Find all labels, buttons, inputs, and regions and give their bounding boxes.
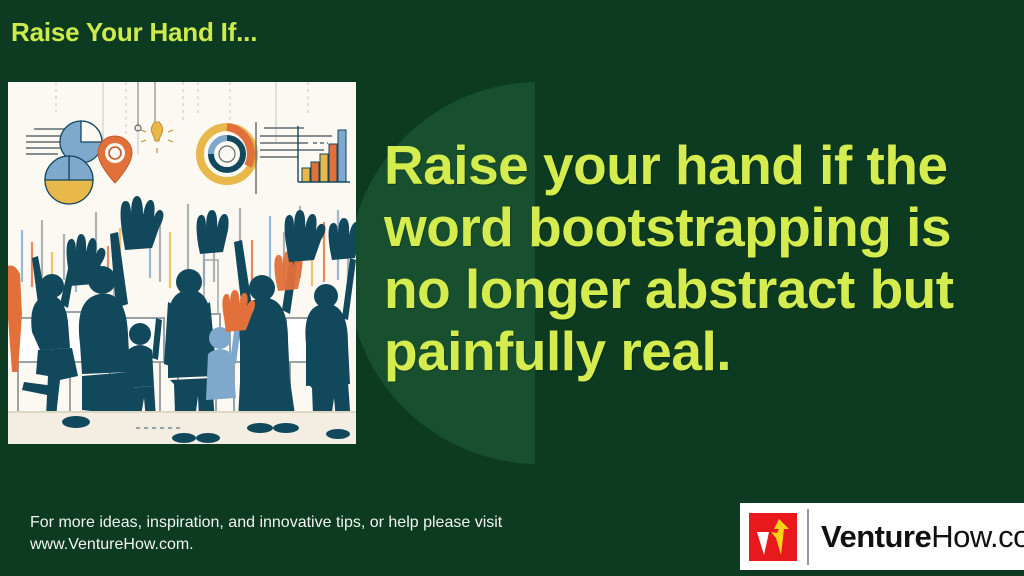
footer-note: For more ideas, inspiration, and innovat…	[30, 512, 670, 556]
illustration-audience-raising-hands	[8, 82, 356, 444]
venture-arrow-icon	[749, 513, 797, 561]
logo-divider	[807, 509, 809, 565]
page-title: Raise Your Hand If...	[11, 17, 257, 48]
illustration-graphic	[8, 82, 356, 444]
logo-word-light: How.com	[931, 519, 1024, 554]
footer-line-1: For more ideas, inspiration, and innovat…	[30, 512, 670, 534]
venture-arrow-glyph	[749, 513, 797, 561]
venturehow-logo[interactable]: VentureHow.com	[740, 503, 1024, 570]
donut-chart	[200, 127, 254, 181]
pie-chart	[45, 156, 93, 204]
footer-line-2: www.VentureHow.com.	[30, 534, 670, 556]
logo-wordmark: VentureHow.com	[821, 519, 1024, 555]
quote-text: Raise your hand if the word bootstrappin…	[384, 134, 1004, 382]
slide-root: Raise Your Hand If...	[0, 0, 1024, 576]
logo-word-bold: Venture	[821, 519, 931, 554]
